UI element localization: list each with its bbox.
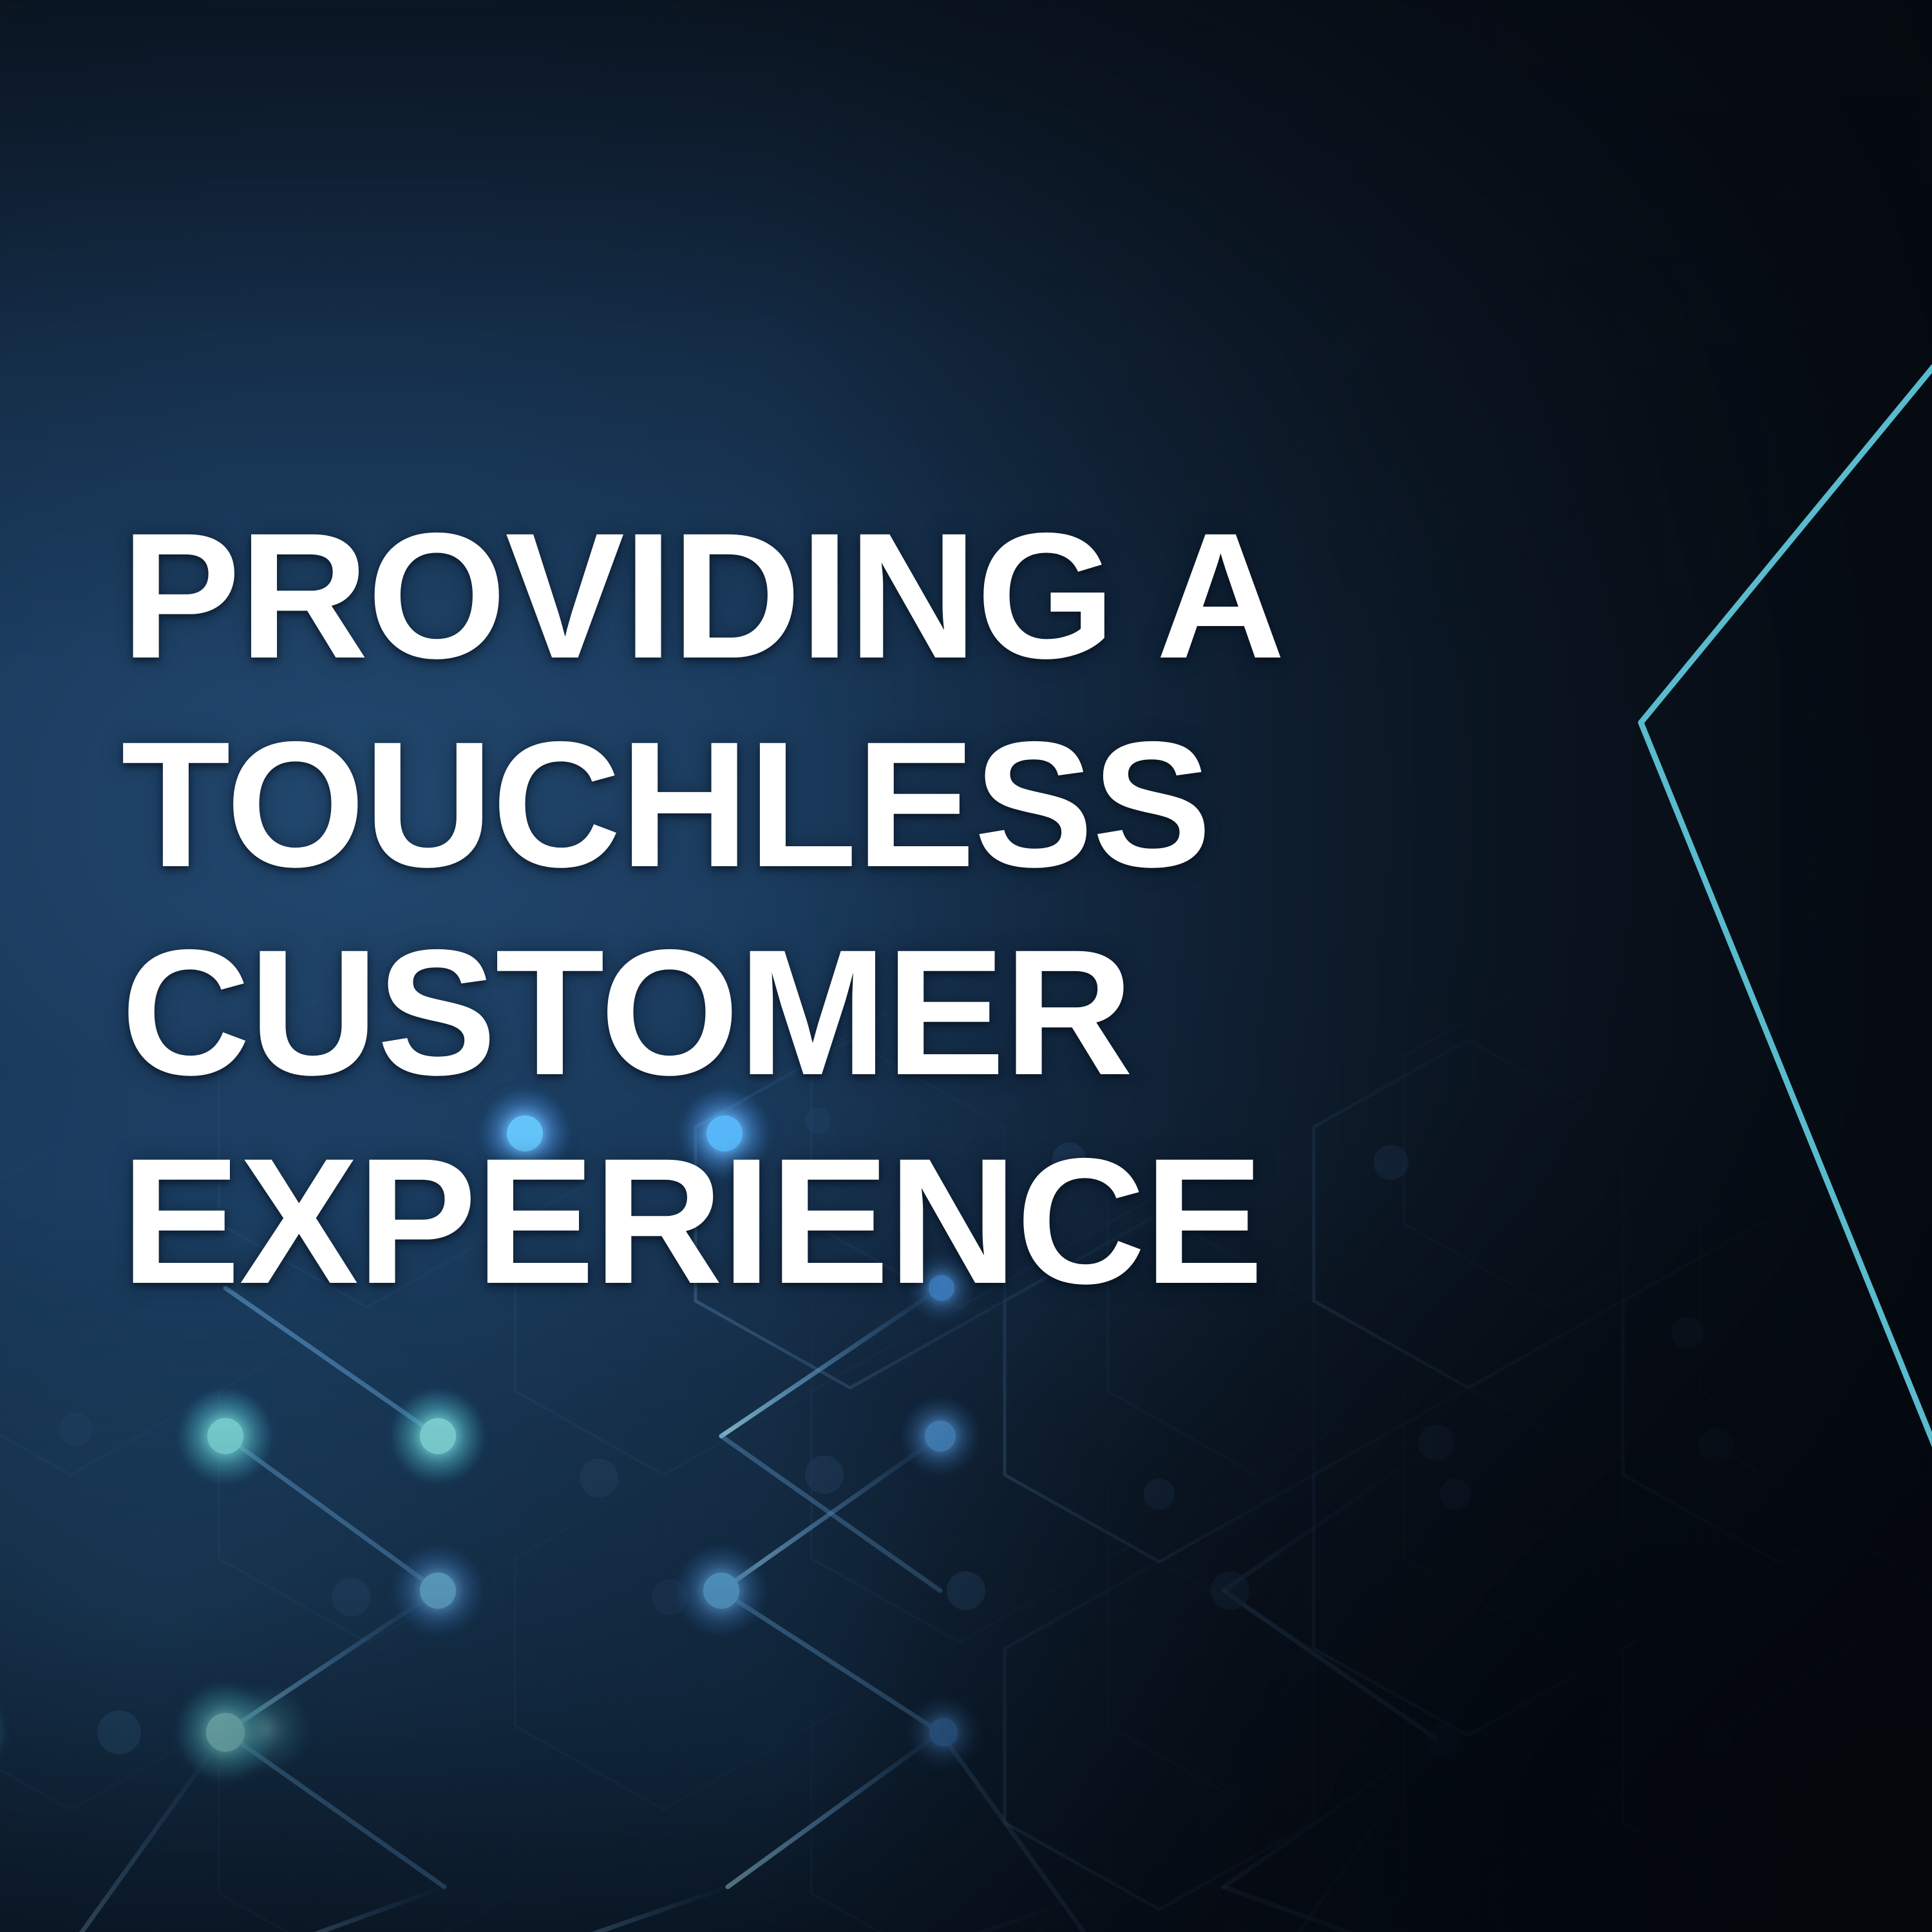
title-line-3: CUSTOMER <box>121 925 1602 1099</box>
title-slide: PROVIDING A TOUCHLESS CUSTOMER EXPERIENC… <box>0 0 1932 1932</box>
page-title: PROVIDING A TOUCHLESS CUSTOMER EXPERIENC… <box>121 509 1602 1308</box>
title-line-1: PROVIDING A <box>121 509 1602 683</box>
title-line-4: EXPERIENCE <box>121 1134 1602 1308</box>
title-line-2: TOUCHLESS <box>121 717 1602 891</box>
